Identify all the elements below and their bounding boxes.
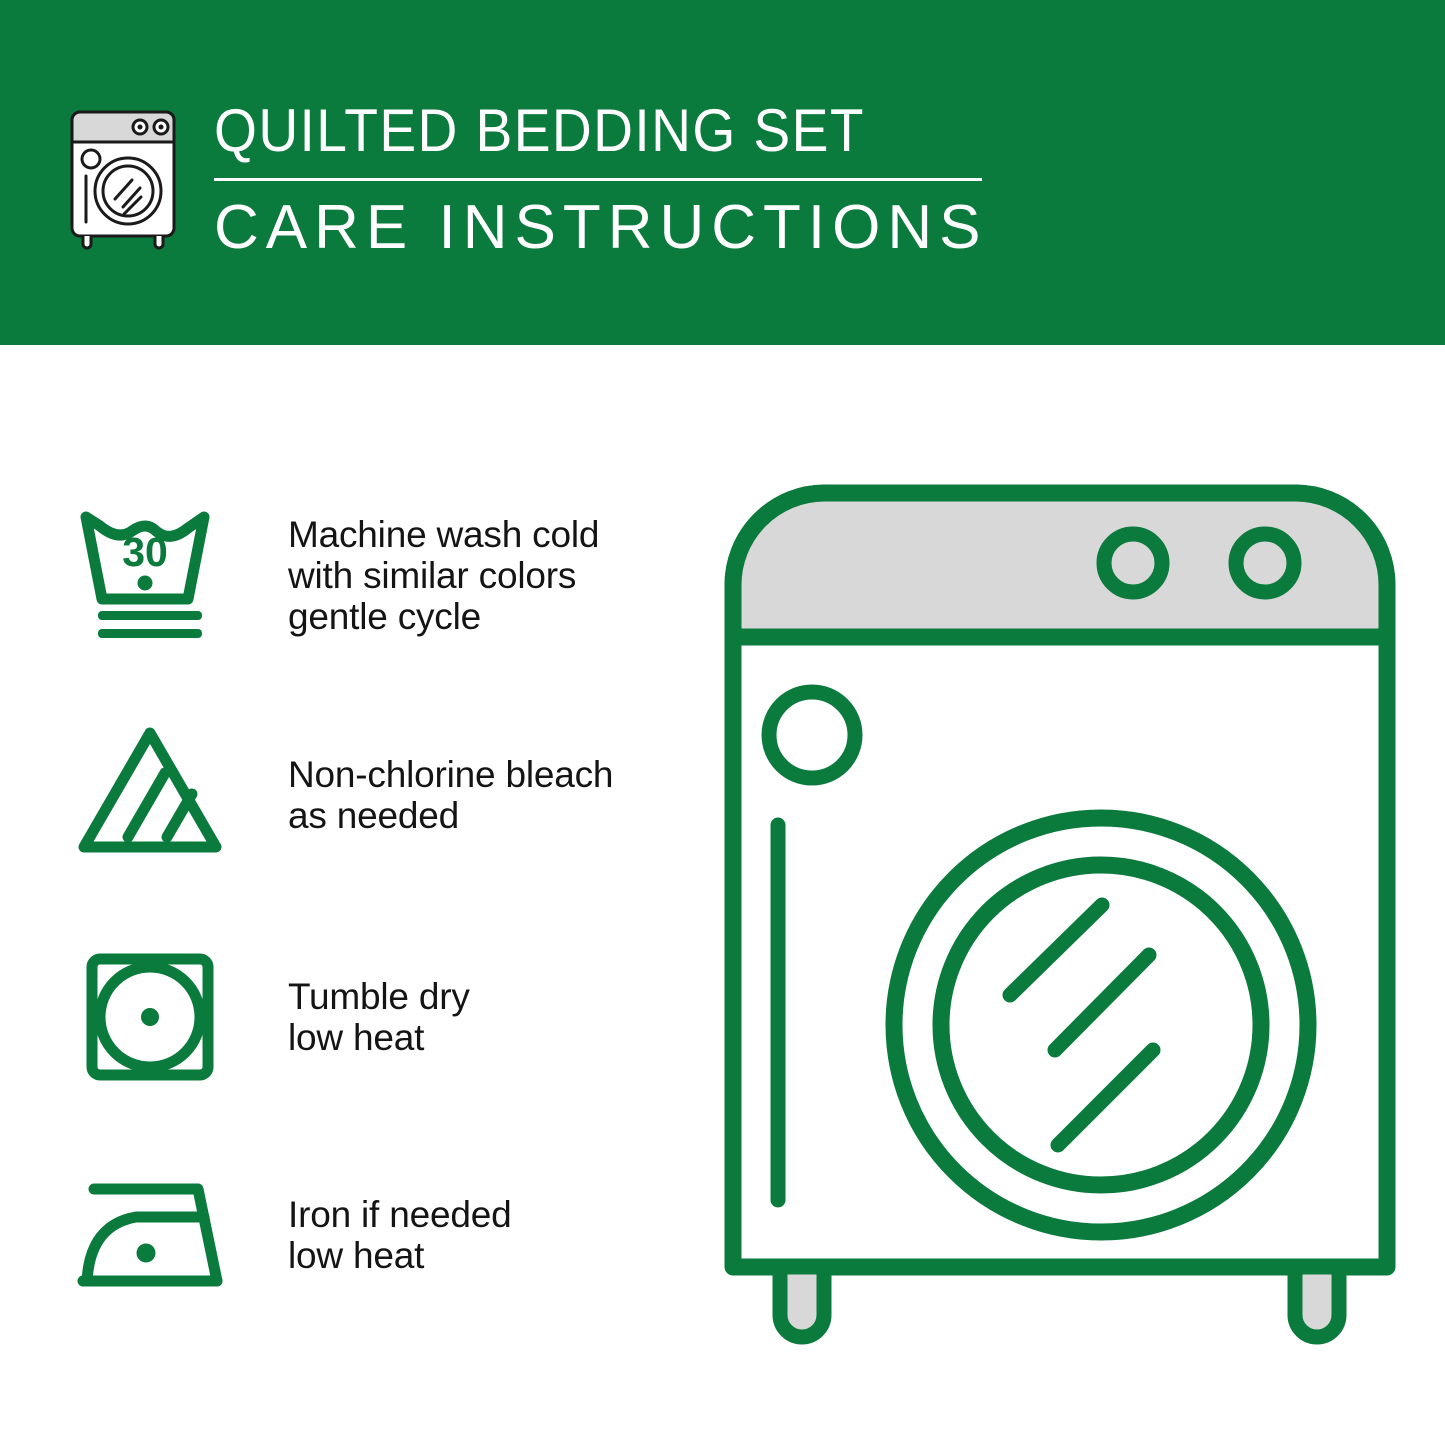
triangle-non-chlorine-bleach-icon <box>70 715 230 875</box>
care-instruction-list: 30 Machine wash cold with similar colors… <box>0 345 700 1445</box>
care-row-machine-wash: 30 Machine wash cold with similar colors… <box>70 495 690 655</box>
care-text-machine-wash: Machine wash cold with similar colors ge… <box>288 514 599 637</box>
wash-tub-30-gentle-icon: 30 <box>70 495 230 655</box>
care-instructions-page: QUILTED BEDDING SET CARE INSTRUCTIONS 30… <box>0 0 1445 1445</box>
leg-right <box>1295 1267 1339 1337</box>
care-text-bleach: Non-chlorine bleach as needed <box>288 754 613 836</box>
care-row-bleach: Non-chlorine bleach as needed <box>70 715 690 875</box>
title-divider <box>214 178 982 181</box>
knob-left[interactable] <box>1104 534 1162 592</box>
care-text-iron: Iron if needed low heat <box>288 1194 511 1276</box>
indicator-light <box>769 692 855 778</box>
svg-text:30: 30 <box>122 529 168 575</box>
tumble-dry-low-heat-icon <box>70 937 230 1097</box>
care-row-iron: Iron if needed low heat <box>70 1155 690 1315</box>
header-title-group: QUILTED BEDDING SET CARE INSTRUCTIONS <box>214 96 987 260</box>
page-subtitle: CARE INSTRUCTIONS <box>214 196 987 260</box>
header-content: QUILTED BEDDING SET CARE INSTRUCTIONS <box>62 96 987 260</box>
page-title: QUILTED BEDDING SET <box>214 100 926 162</box>
header-banner: QUILTED BEDDING SET CARE INSTRUCTIONS <box>0 0 1445 345</box>
knob-right[interactable] <box>1236 534 1294 592</box>
front-load-washing-machine-illustration <box>705 465 1415 1375</box>
care-row-tumble-dry: Tumble dry low heat <box>70 937 690 1097</box>
care-text-tumble-dry: Tumble dry low heat <box>288 976 470 1058</box>
iron-low-heat-icon <box>70 1155 230 1315</box>
washing-machine-icon <box>62 98 184 250</box>
leg-left <box>780 1267 824 1337</box>
